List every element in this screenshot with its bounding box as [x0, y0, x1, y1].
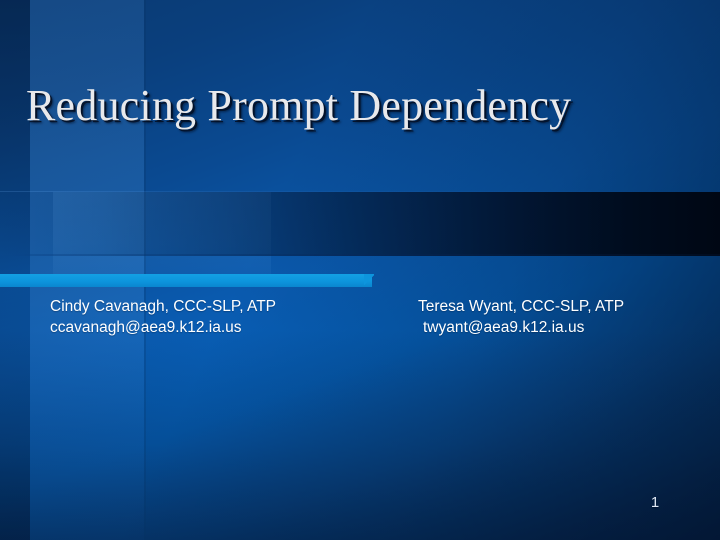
cyan-accent-bar	[0, 274, 372, 287]
slide-title: Reducing Prompt Dependency	[26, 82, 686, 130]
presenter-name: Cindy Cavanagh, CCC-SLP, ATP	[50, 296, 276, 317]
presenter-entry: Teresa Wyant, CCC-SLP, ATP twyant@aea9.k…	[418, 296, 624, 338]
dark-band-bottom-edge	[0, 254, 720, 256]
horizontal-dark-band	[0, 192, 720, 256]
page-number: 1	[640, 494, 670, 511]
presenter-entry: Cindy Cavanagh, CCC-SLP, ATP ccavanagh@a…	[50, 296, 276, 338]
presenter-name: Teresa Wyant, CCC-SLP, ATP	[418, 296, 624, 317]
presenter-email: twyant@aea9.k12.ia.us	[418, 317, 624, 338]
presenter-email: ccavanagh@aea9.k12.ia.us	[50, 317, 276, 338]
presenter-list: Cindy Cavanagh, CCC-SLP, ATP ccavanagh@a…	[0, 296, 720, 356]
dark-band-top-highlight	[0, 191, 720, 192]
presentation-slide: Reducing Prompt Dependency Cindy Cavanag…	[0, 0, 720, 540]
cyan-accent-bar-tip	[364, 274, 374, 287]
